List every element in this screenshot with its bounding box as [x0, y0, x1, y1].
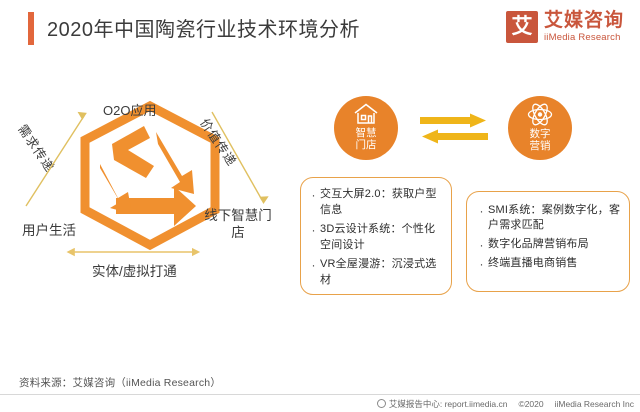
- bidirectional-arrows-icon: [418, 113, 490, 147]
- diagram-guide-arrows: [0, 56, 300, 306]
- smart-store-label-line2: 门店: [356, 139, 377, 151]
- report-center-link[interactable]: 艾媒报告中心: report.iimedia.cn: [377, 398, 508, 410]
- list-item: · SMI系统：案例数字化，客户需求匹配: [475, 203, 621, 234]
- list-item: · 数字化品牌营销布局: [475, 237, 621, 253]
- atom-icon: [527, 103, 553, 126]
- bullet-icon: ·: [307, 187, 320, 203]
- list-item: · 交互大屏2.0：获取户型信息: [307, 187, 443, 219]
- list-item-text: 终端直播电商销售: [488, 256, 578, 271]
- slide-canvas: 2020年中国陶瓷行业技术环境分析 艾 艾媒咨询 iiMedia Researc…: [0, 0, 640, 412]
- digital-marketing-label-line1: 数字: [530, 128, 551, 140]
- iimedia-logo: 艾 艾媒咨询 iiMedia Research: [506, 11, 624, 43]
- source-note: 资料来源：艾媒咨询（iiMedia Research）: [19, 375, 221, 390]
- logo-mark-icon: 艾: [506, 11, 538, 43]
- bullet-icon: ·: [475, 203, 488, 219]
- list-item: · VR全屋漫游：沉浸式选材: [307, 257, 443, 289]
- list-item-text: 3D云设计系统：个性化空间设计: [320, 222, 443, 254]
- smart-store-details-box: · 交互大屏2.0：获取户型信息 · 3D云设计系统：个性化空间设计 · VR全…: [300, 177, 452, 295]
- list-item-text: 交互大屏2.0：获取户型信息: [320, 187, 443, 219]
- logo-name-en: iiMedia Research: [544, 33, 624, 43]
- list-item-text: VR全屋漫游：沉浸式选材: [320, 257, 443, 289]
- bullet-icon: ·: [307, 222, 320, 238]
- bullet-icon: ·: [307, 257, 320, 273]
- report-center-text: 艾媒报告中心: report.iimedia.cn: [389, 399, 508, 409]
- digital-marketing-label-line2: 营销: [530, 140, 551, 152]
- smart-store-label: 智慧 门店: [356, 127, 377, 151]
- copyright-text: ©2020: [518, 399, 543, 409]
- digital-marketing-details-box: · SMI系统：案例数字化，客户需求匹配 · 数字化品牌营销布局 · 终端直播电…: [466, 191, 630, 292]
- title-accent-bar: [28, 12, 34, 45]
- page-title: 2020年中国陶瓷行业技术环境分析: [47, 13, 360, 42]
- o2o-recycle-diagram: O2O应用 用户生活 线下智慧门店 实体/虚拟打通 需求传递 价值传递: [0, 56, 300, 306]
- list-item: · 3D云设计系统：个性化空间设计: [307, 222, 443, 254]
- slide-header: 2020年中国陶瓷行业技术环境分析 艾 艾媒咨询 iiMedia Researc…: [0, 0, 640, 56]
- house-icon: [353, 103, 379, 125]
- list-item: · 终端直播电商销售: [475, 256, 621, 272]
- footer-bar: 艾媒报告中心: report.iimedia.cn ©2020 iiMedia …: [0, 395, 640, 412]
- bullet-icon: ·: [475, 256, 488, 272]
- digital-marketing-node: 数字 营销: [508, 96, 572, 160]
- digital-marketing-label: 数字 营销: [530, 128, 551, 152]
- logo-name-cn: 艾媒咨询: [544, 11, 624, 30]
- company-text: iiMedia Research Inc: [555, 399, 634, 409]
- list-item-text: 数字化品牌营销布局: [488, 237, 589, 252]
- smart-store-node: 智慧 门店: [334, 96, 398, 160]
- logo-text: 艾媒咨询 iiMedia Research: [544, 11, 624, 43]
- bullet-icon: ·: [475, 237, 488, 253]
- list-item-text: SMI系统：案例数字化，客户需求匹配: [488, 203, 621, 234]
- globe-icon: [377, 399, 386, 408]
- smart-store-label-line1: 智慧: [356, 127, 377, 139]
